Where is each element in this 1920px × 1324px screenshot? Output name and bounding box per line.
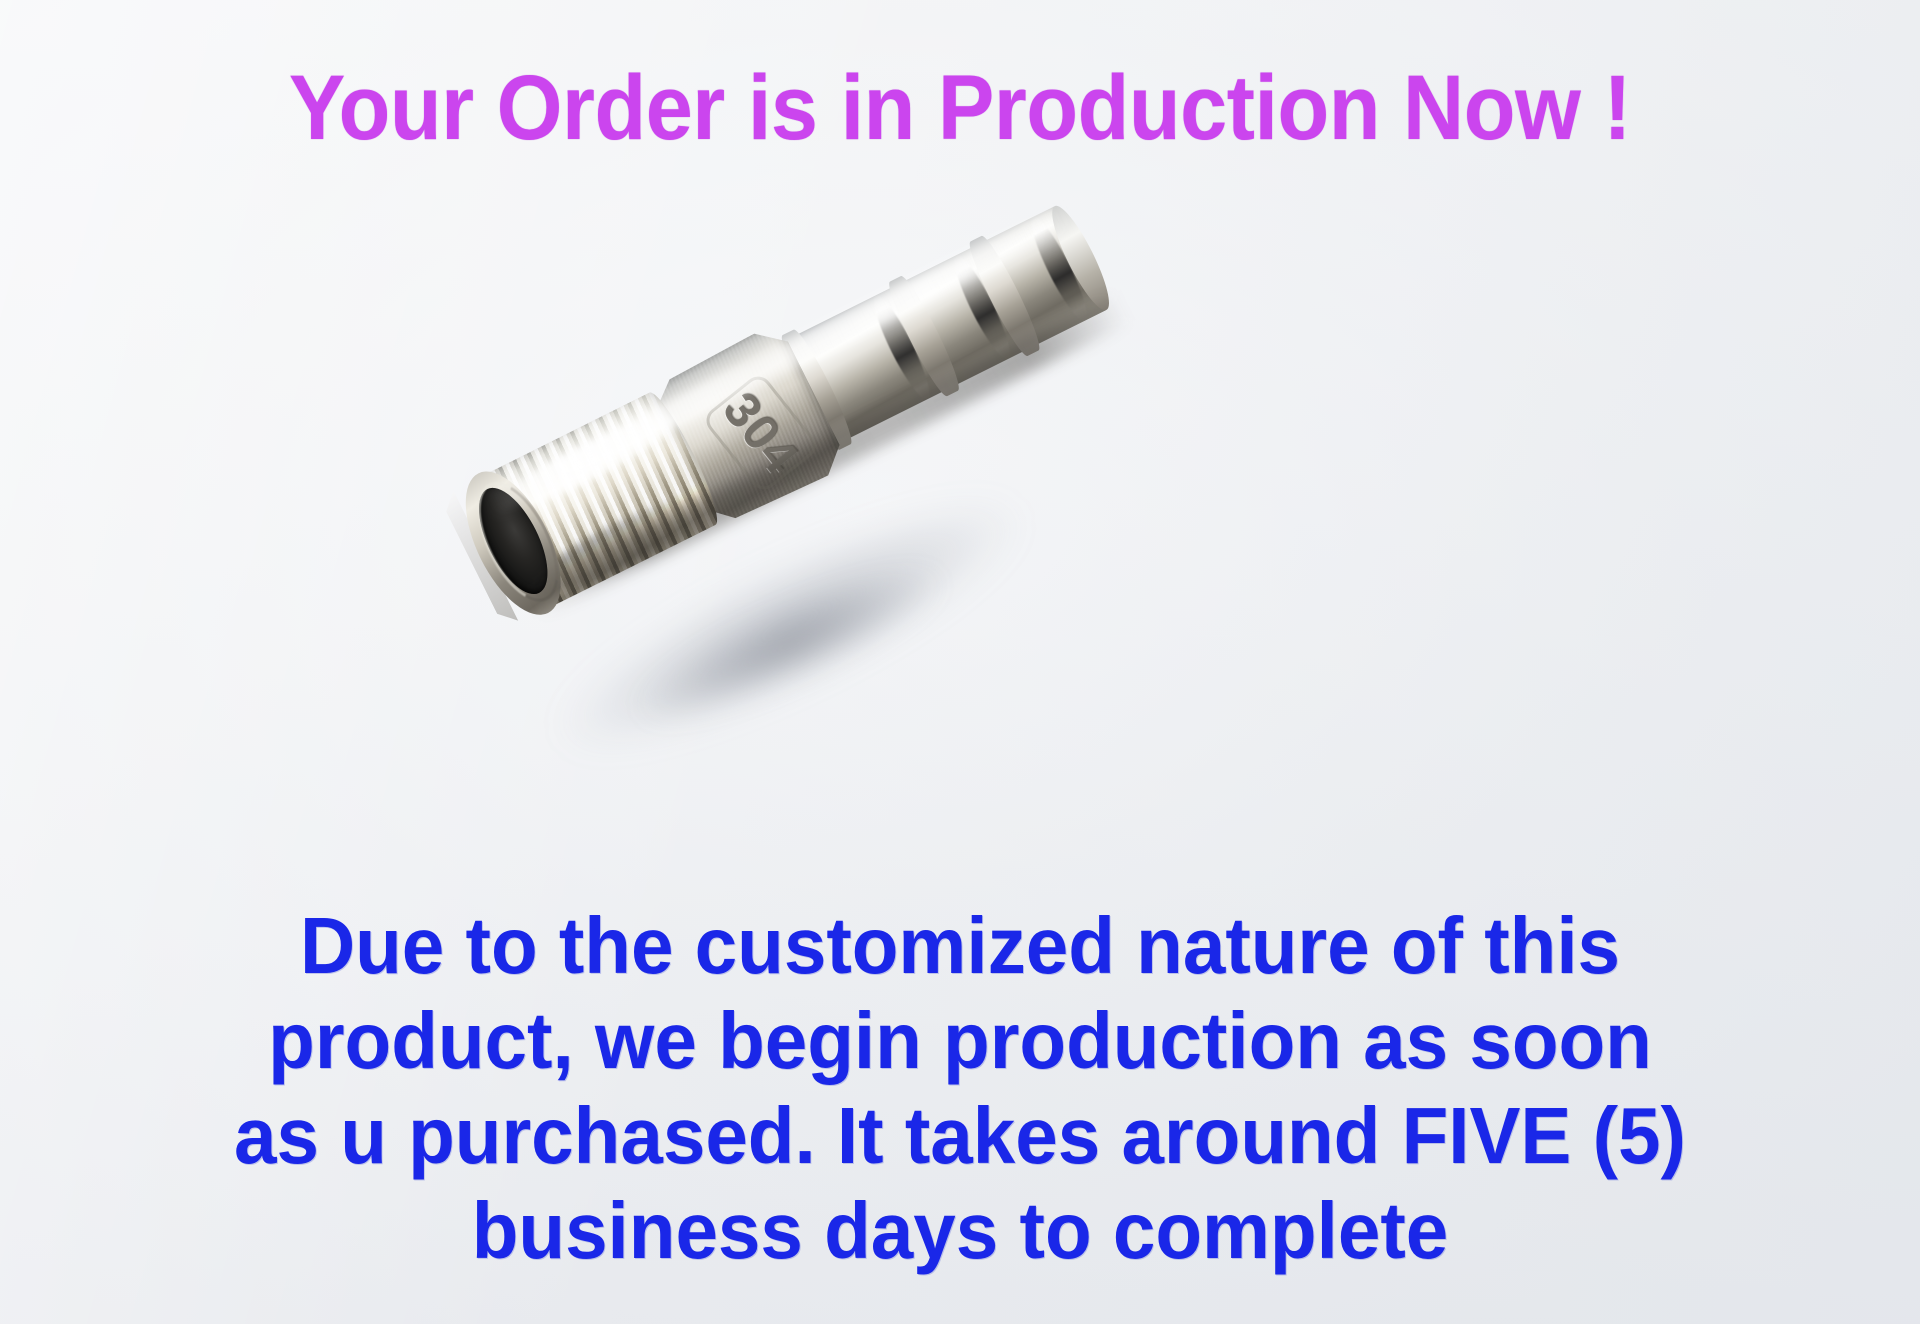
promo-banner: Your Order is in Production Now ! 304 — [0, 0, 1920, 1324]
product-photo: 304 — [430, 300, 1190, 750]
page-title: Your Order is in Production Now ! — [77, 62, 1843, 154]
notice-line-2: product, we begin production as soon — [43, 993, 1877, 1088]
notice-line-4: business days to complete — [43, 1183, 1877, 1278]
production-notice: Due to the customized nature of this pro… — [43, 898, 1877, 1278]
notice-line-1: Due to the customized nature of this — [43, 898, 1877, 993]
notice-line-3: as u purchased. It takes around FIVE (5) — [43, 1088, 1877, 1183]
